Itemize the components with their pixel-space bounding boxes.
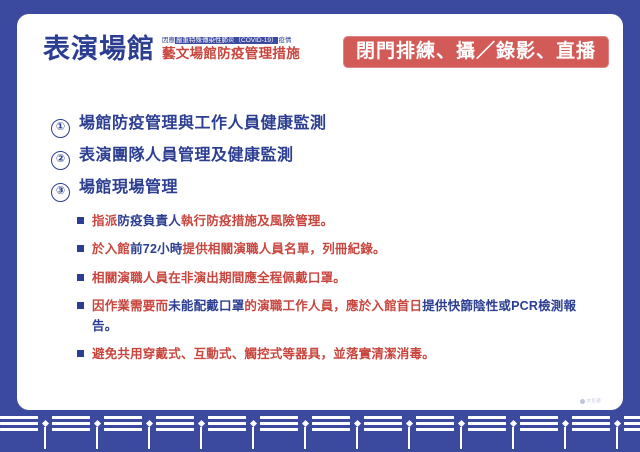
seat-divider-icon <box>404 416 414 449</box>
seat-divider-dot-icon <box>353 420 360 427</box>
logo-dot-icon <box>580 399 585 404</box>
seat-bar-icon <box>312 428 350 431</box>
seat-block-icon <box>468 416 506 434</box>
seat-block-icon <box>364 416 402 434</box>
seat-divider-line-icon <box>356 427 358 449</box>
bullet-square-icon <box>77 350 84 357</box>
bullet-text-segment: 的演職工作人員，應於入館首日 <box>244 299 422 313</box>
seat-bar-icon <box>0 422 38 425</box>
seat-bar-icon <box>416 422 454 425</box>
content-card: 表演場館 因應嚴重特殊傳染性肺炎（COVID-19）疫情 藝文場館防疫管理措施 … <box>17 14 623 410</box>
bullet-square-icon <box>77 302 84 309</box>
logo-label: 文化部 <box>587 398 601 404</box>
seat-bar-icon <box>572 416 610 419</box>
numbered-item: ③ 場館現場管理 <box>51 178 603 200</box>
footer-decoration <box>0 410 640 452</box>
numbered-item-badge: ② <box>51 151 70 170</box>
seat-bar-icon <box>520 416 558 419</box>
seat-divider-dot-icon <box>509 420 516 427</box>
bullet-text-segment: 防疫負責人 <box>117 214 181 228</box>
seat-divider-dot-icon <box>561 420 568 427</box>
seat-divider-icon <box>560 416 570 449</box>
covid-notice-highlight: 嚴重特殊傳染性肺炎（COVID-19） <box>175 37 278 44</box>
header-subtitle-group: 因應嚴重特殊傳染性肺炎（COVID-19）疫情 藝文場館防疫管理措施 <box>162 37 300 63</box>
seat-bar-icon <box>468 416 506 419</box>
seat-bar-icon <box>364 422 402 425</box>
bullet-item: 避免共用穿戴式、互動式、觸控式等器具，並落實清潔消毒。 <box>77 345 597 364</box>
bullet-item-label: 避免共用穿戴式、互動式、觸控式等器具，並落實清潔消毒。 <box>92 345 435 364</box>
bullet-text-segment: 於入館 <box>92 242 130 256</box>
seat-divider-line-icon <box>564 427 566 449</box>
seat-bar-icon <box>260 416 298 419</box>
poster-header: 表演場館 因應嚴重特殊傳染性肺炎（COVID-19）疫情 藝文場館防疫管理措施 … <box>43 36 609 82</box>
seat-divider-dot-icon <box>457 420 464 427</box>
seat-bar-icon <box>208 428 246 431</box>
seat-block-icon <box>624 416 640 434</box>
seat-bar-icon <box>624 428 640 431</box>
covid-notice-prefix: 因應 <box>162 37 175 44</box>
seat-divider-line-icon <box>44 427 46 449</box>
seat-block-icon <box>416 416 454 434</box>
mode-banner-label: 閉門排練、攝／錄影、直播 <box>356 42 596 61</box>
seat-bar-icon <box>520 422 558 425</box>
seat-bar-icon <box>572 428 610 431</box>
seat-bar-icon <box>260 422 298 425</box>
seat-bar-icon <box>208 422 246 425</box>
seat-divider-dot-icon <box>405 420 412 427</box>
bullet-item: 因作業需要而未能配戴口罩的演職工作人員，應於入館首日提供快篩陰性或PCR檢測報告… <box>77 297 597 336</box>
seat-divider-dot-icon <box>613 420 620 427</box>
seat-bar-icon <box>104 422 142 425</box>
seat-divider-dot-icon <box>145 420 152 427</box>
seat-bar-icon <box>156 428 194 431</box>
policy-subtitle: 藝文場館防疫管理措施 <box>162 47 300 62</box>
seat-divider-dot-icon <box>93 420 100 427</box>
seat-divider-line-icon <box>408 427 410 449</box>
numbered-section-list: ① 場館防疫管理與工作人員健康監測 ② 表演團隊人員管理及健康監測 ③ 場館現場… <box>51 114 603 210</box>
numbered-item-label: 場館防疫管理與工作人員健康監測 <box>79 114 327 133</box>
seat-bar-icon <box>468 428 506 431</box>
bullet-text-segment: 避免共用穿戴式、互動式、觸控式等器具，並落實清潔消毒。 <box>92 347 435 361</box>
seat-block-icon <box>572 416 610 434</box>
bullet-item: 相關演職人員在非演出期間應全程佩戴口罩。 <box>77 269 597 288</box>
seat-bar-icon <box>52 428 90 431</box>
seat-bar-icon <box>0 416 38 419</box>
numbered-item-label: 場館現場管理 <box>79 178 178 197</box>
bullet-text-segment: 執行防疫措施及風險管理。 <box>181 214 333 228</box>
seat-bar-icon <box>624 422 640 425</box>
poster-root: 表演場館 因應嚴重特殊傳染性肺炎（COVID-19）疫情 藝文場館防疫管理措施 … <box>0 0 640 452</box>
seat-block-icon <box>0 416 38 434</box>
seat-block-icon <box>104 416 142 434</box>
numbered-item-badge: ① <box>51 119 70 138</box>
seat-block-icon <box>52 416 90 434</box>
organization-logo: 文化部 <box>580 398 601 404</box>
mode-banner: 閉門排練、攝／錄影、直播 <box>343 36 609 68</box>
seat-block-icon <box>208 416 246 434</box>
seat-divider-icon <box>92 416 102 449</box>
bullet-text-segment: 未能配戴口罩 <box>168 299 244 313</box>
seat-bar-icon <box>312 422 350 425</box>
seat-divider-icon <box>352 416 362 449</box>
seat-bar-icon <box>364 428 402 431</box>
bullet-item-label: 相關演職人員在非演出期間應全程佩戴口罩。 <box>92 269 346 288</box>
numbered-item: ① 場館防疫管理與工作人員健康監測 <box>51 114 603 136</box>
seat-bar-icon <box>104 416 142 419</box>
seat-bar-icon <box>312 416 350 419</box>
numbered-item-label: 表演團隊人員管理及健康監測 <box>79 146 294 165</box>
bullet-item-label: 於入館前72小時提供相關演職人員名單，列冊紀錄。 <box>92 240 386 259</box>
seat-divider-dot-icon <box>41 420 48 427</box>
seat-bar-icon <box>572 422 610 425</box>
seat-divider-line-icon <box>200 427 202 449</box>
seat-bar-icon <box>52 416 90 419</box>
bullet-text-segment: 前72小時 <box>130 242 182 256</box>
seat-block-icon <box>312 416 350 434</box>
bullet-text-segment: 指派 <box>92 214 117 228</box>
seat-divider-icon <box>300 416 310 449</box>
seat-bar-icon <box>520 428 558 431</box>
seat-divider-line-icon <box>512 427 514 449</box>
seat-divider-icon <box>248 416 258 449</box>
seat-bar-icon <box>0 428 38 431</box>
bullet-square-icon <box>77 274 84 281</box>
bullet-item-label: 因作業需要而未能配戴口罩的演職工作人員，應於入館首日提供快篩陰性或PCR檢測報告… <box>92 297 597 336</box>
bullet-text-segment: 相關演職人員在非演出期間應全程佩戴口罩。 <box>92 271 346 285</box>
seat-divider-dot-icon <box>197 420 204 427</box>
seat-bar-icon <box>104 428 142 431</box>
seat-bar-icon <box>52 422 90 425</box>
covid-notice-suffix: 疫情 <box>278 37 291 44</box>
seat-divider-line-icon <box>252 427 254 449</box>
seat-block-icon <box>156 416 194 434</box>
seat-bar-icon <box>156 416 194 419</box>
seat-bar-icon <box>624 416 640 419</box>
seat-divider-icon <box>40 416 50 449</box>
seat-divider-dot-icon <box>301 420 308 427</box>
seat-divider-dot-icon <box>249 420 256 427</box>
numbered-item-badge: ③ <box>51 183 70 202</box>
page-title: 表演場館 <box>43 36 155 63</box>
seat-divider-icon <box>144 416 154 449</box>
seat-divider-line-icon <box>616 427 618 449</box>
bullet-item: 指派防疫負責人執行防疫措施及風險管理。 <box>77 212 597 231</box>
seat-bar-icon <box>156 422 194 425</box>
seat-divider-line-icon <box>148 427 150 449</box>
seat-bar-icon <box>260 428 298 431</box>
seat-divider-icon <box>196 416 206 449</box>
seat-divider-icon <box>456 416 466 449</box>
seat-block-icon <box>520 416 558 434</box>
seat-divider-line-icon <box>460 427 462 449</box>
bullet-square-icon <box>77 217 84 224</box>
seat-divider-icon <box>612 416 622 449</box>
seat-pattern-row <box>0 416 640 449</box>
seat-bar-icon <box>364 416 402 419</box>
seat-divider-icon <box>508 416 518 449</box>
bullet-text-segment: 提供相關演職人員名單，列冊紀錄。 <box>183 242 386 256</box>
bullet-text-segment: 因作業需要而 <box>92 299 168 313</box>
seat-block-icon <box>260 416 298 434</box>
bullet-item-label: 指派防疫負責人執行防疫措施及風險管理。 <box>92 212 333 231</box>
seat-divider-line-icon <box>304 427 306 449</box>
seat-bar-icon <box>416 416 454 419</box>
seat-bar-icon <box>208 416 246 419</box>
bullet-item: 於入館前72小時提供相關演職人員名單，列冊紀錄。 <box>77 240 597 259</box>
seat-divider-line-icon <box>96 427 98 449</box>
numbered-item: ② 表演團隊人員管理及健康監測 <box>51 146 603 168</box>
bullet-section-list: 指派防疫負責人執行防疫措施及風險管理。於入館前72小時提供相關演職人員名單，列冊… <box>77 212 597 373</box>
header-title-group: 表演場館 因應嚴重特殊傳染性肺炎（COVID-19）疫情 藝文場館防疫管理措施 <box>43 36 300 63</box>
seat-bar-icon <box>416 428 454 431</box>
covid-notice-line: 因應嚴重特殊傳染性肺炎（COVID-19）疫情 <box>162 37 300 45</box>
seat-bar-icon <box>468 422 506 425</box>
bullet-square-icon <box>77 245 84 252</box>
